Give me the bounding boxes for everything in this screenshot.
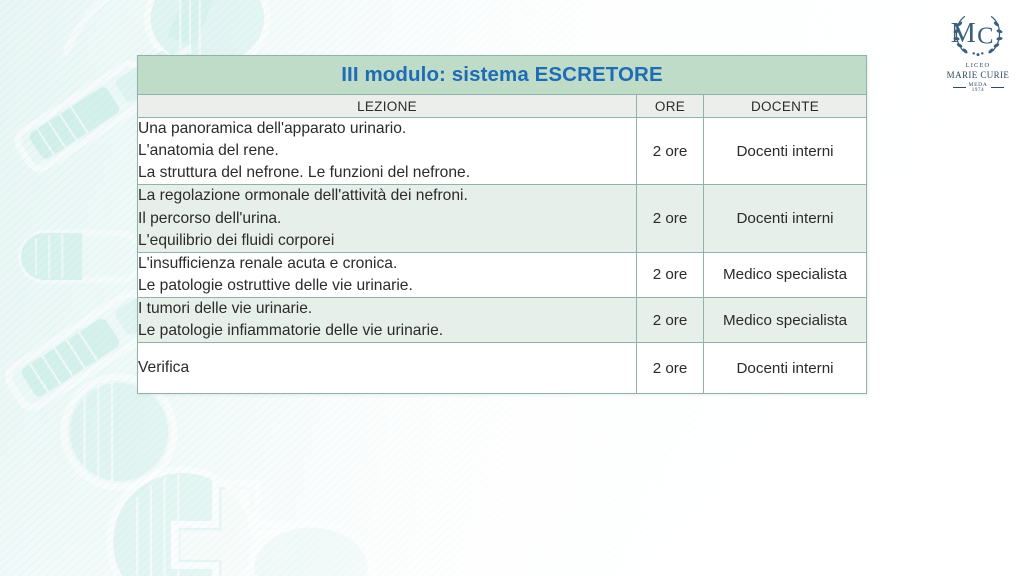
logo-year-label: 1974	[969, 88, 988, 93]
cell-lezione: Una panoramica dell'apparato urinario. L…	[138, 118, 637, 185]
table-header-row: LEZIONE ORE DOCENTE	[138, 95, 867, 118]
lezione-line: I tumori delle vie urinarie.	[138, 298, 636, 320]
lezione-line: Una panoramica dell'apparato urinario.	[138, 118, 636, 140]
table-row: Una panoramica dell'apparato urinario. L…	[138, 118, 867, 185]
logo-divider: MEDA 1974	[947, 82, 1010, 93]
logo-liceo-label: LICEO	[947, 63, 1010, 70]
page-title: III modulo: sistema ESCRETORE	[341, 63, 662, 86]
lezione-line: Le patologie infiammatorie delle vie uri…	[138, 320, 636, 342]
lezione-line: La regolazione ormonale dell'attività de…	[138, 185, 636, 207]
cell-ore: 2 ore	[637, 298, 704, 343]
cell-lezione: La regolazione ormonale dell'attività de…	[138, 185, 637, 252]
cell-lezione: I tumori delle vie urinarie. Le patologi…	[138, 298, 637, 343]
svg-text:M: M	[951, 18, 976, 49]
svg-text:C: C	[977, 23, 993, 50]
lezione-line: L'equilibrio dei fluidi corporei	[138, 230, 636, 252]
cell-ore: 2 ore	[637, 118, 704, 185]
school-logo: M C LICEO MARIE CURIE MEDA 1974	[938, 4, 1018, 102]
table-row: L'insufficienza renale acuta e cronica. …	[138, 252, 867, 297]
cell-lezione: L'insufficienza renale acuta e cronica. …	[138, 252, 637, 297]
cell-ore: 2 ore	[637, 343, 704, 394]
module-title-cell: III modulo: sistema ESCRETORE	[138, 56, 867, 95]
pill-icon	[236, 498, 386, 576]
lezione-line: Le patologie ostruttive delle vie urinar…	[138, 275, 636, 297]
column-header-docente: DOCENTE	[704, 95, 867, 118]
schedule-table-body: Una panoramica dell'apparato urinario. L…	[138, 118, 867, 394]
lezione-line: Il percorso dell'urina.	[138, 208, 636, 230]
cell-ore: 2 ore	[637, 252, 704, 297]
schedule-table-container: III modulo: sistema ESCRETORE LEZIONE OR…	[137, 55, 867, 394]
cell-docente: Medico specialista	[704, 252, 867, 297]
cell-ore: 2 ore	[637, 185, 704, 252]
table-row: Verifica 2 ore Docenti interni	[138, 343, 867, 394]
lezione-line: Verifica	[138, 357, 636, 379]
schedule-table: III modulo: sistema ESCRETORE LEZIONE OR…	[137, 55, 867, 394]
table-title-row: III modulo: sistema ESCRETORE	[138, 56, 867, 95]
arc-decoration-icon	[60, 0, 360, 60]
lezione-line: La struttura del nefrone. Le funzioni de…	[138, 162, 636, 184]
table-row: I tumori delle vie urinarie. Le patologi…	[138, 298, 867, 343]
cell-docente: Docenti interni	[704, 343, 867, 394]
logo-caption: LICEO MARIE CURIE MEDA 1974	[947, 63, 1010, 94]
logo-rule-right	[991, 87, 1004, 88]
column-header-ore: ORE	[637, 95, 704, 118]
lezione-line: L'insufficienza renale acuta e cronica.	[138, 253, 636, 275]
cell-docente: Medico specialista	[704, 298, 867, 343]
laurel-wreath-monogram-icon: M C	[947, 8, 1009, 62]
cell-lezione: Verifica	[138, 343, 637, 394]
table-row: La regolazione ormonale dell'attività de…	[138, 185, 867, 252]
slide-canvas: M C LICEO MARIE CURIE MEDA 1974	[0, 0, 1024, 576]
capsule-icon	[8, 205, 158, 308]
logo-rule-left	[953, 87, 966, 88]
medical-cross-icon	[98, 448, 294, 576]
logo-school-name: MARIE CURIE	[947, 71, 1010, 80]
column-header-lezione: LEZIONE	[138, 95, 637, 118]
cell-docente: Docenti interni	[704, 185, 867, 252]
lezione-line: L'anatomia del rene.	[138, 140, 636, 162]
cell-docente: Docenti interni	[704, 118, 867, 185]
